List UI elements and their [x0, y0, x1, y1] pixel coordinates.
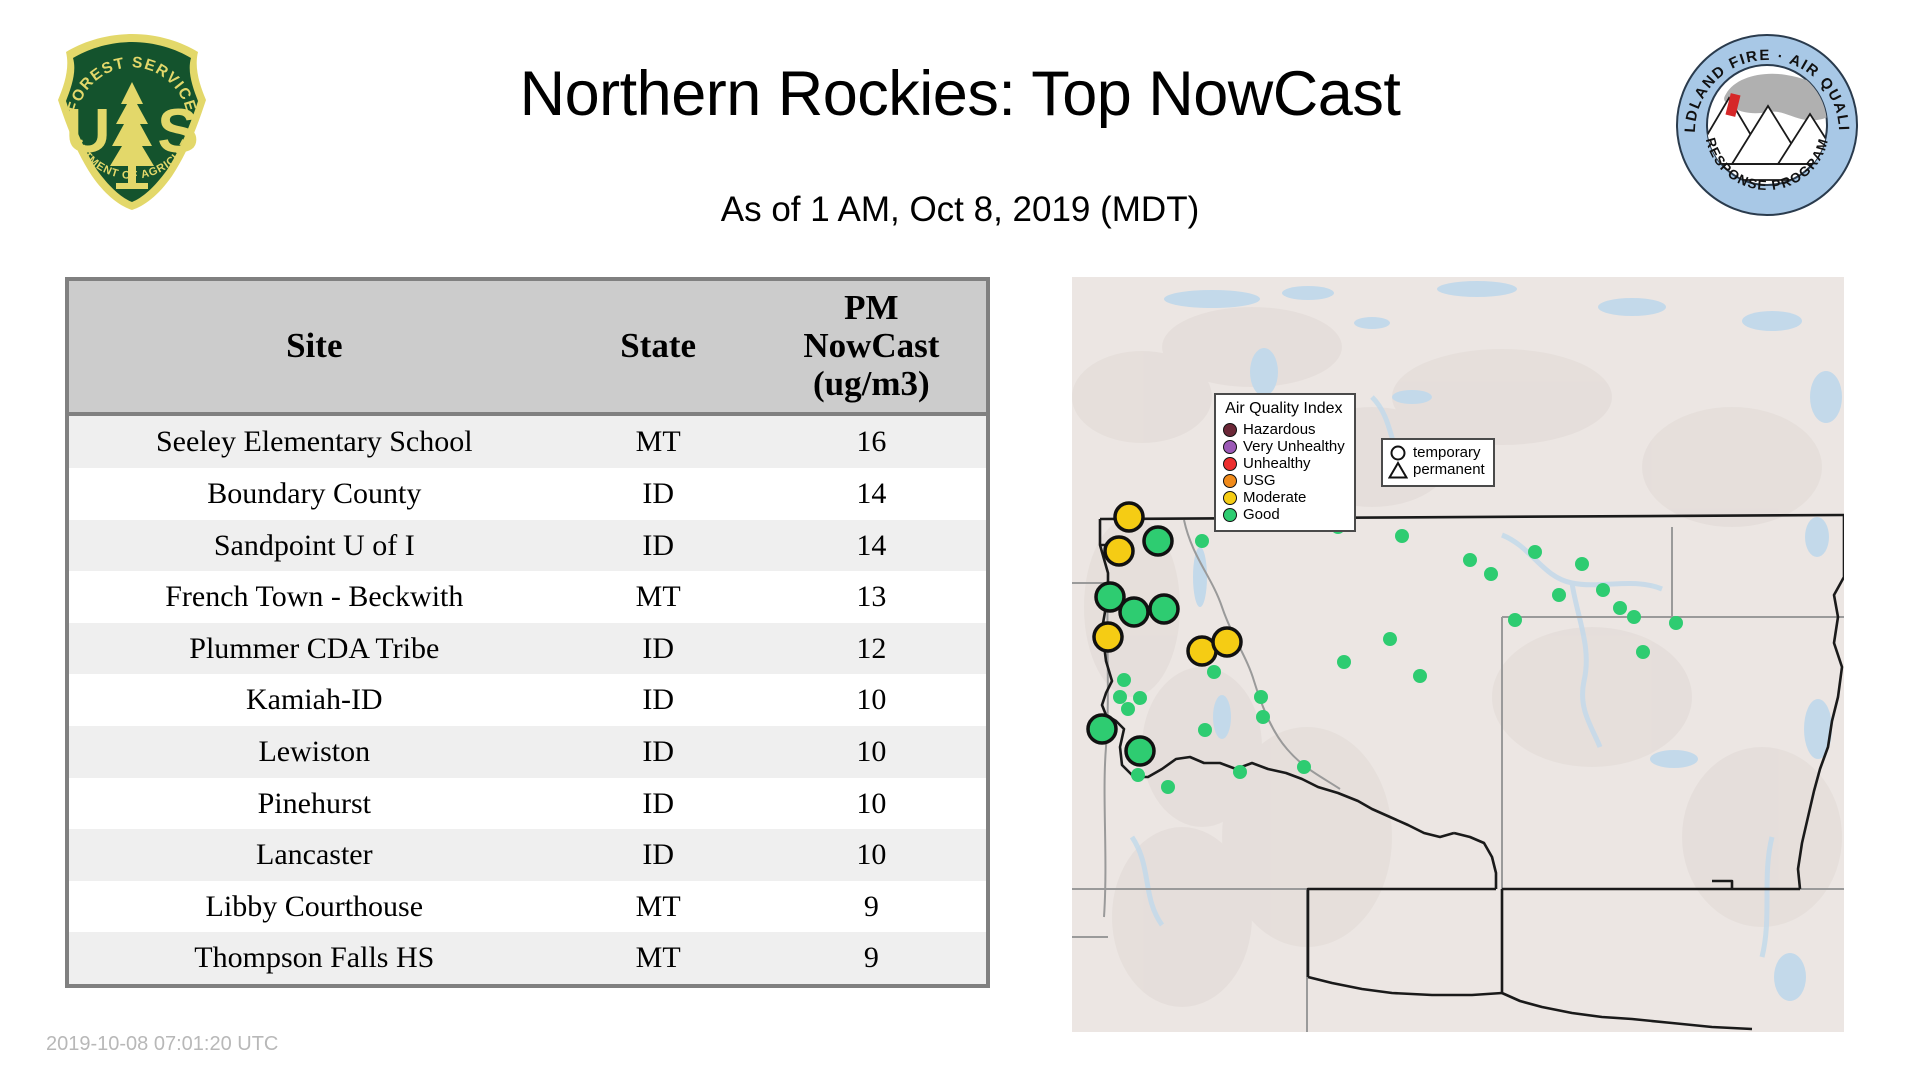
monitor-dot-small[interactable]: [1613, 601, 1627, 615]
cell-site: Lancaster: [69, 829, 560, 881]
cell-state: MT: [560, 932, 757, 984]
aqi-swatch-icon: [1223, 423, 1237, 437]
table-row[interactable]: Plummer CDA TribeID12: [69, 623, 986, 675]
table-row[interactable]: Seeley Elementary SchoolMT16: [69, 414, 986, 468]
cell-site: Lewiston: [69, 726, 560, 778]
monitor-dot-small[interactable]: [1198, 723, 1212, 737]
monitor-dot-small[interactable]: [1508, 613, 1522, 627]
aqi-legend-item: Hazardous: [1223, 421, 1345, 438]
permanent-triangle-icon: [1390, 463, 1407, 478]
cell-site: Boundary County: [69, 468, 560, 520]
monitor-dot-small[interactable]: [1121, 702, 1135, 716]
table-row[interactable]: Kamiah-IDID10: [69, 674, 986, 726]
monitor-dot-small[interactable]: [1528, 545, 1542, 559]
table-header-row: Site State PM NowCast (ug/m3): [69, 281, 986, 414]
site-type-permanent-label: permanent: [1413, 462, 1485, 479]
aqi-legend-item: Good: [1223, 506, 1345, 523]
cell-pm-nowcast: 10: [757, 829, 986, 881]
monitor-dot-small[interactable]: [1233, 765, 1247, 779]
monitor-dot-small[interactable]: [1596, 583, 1610, 597]
cell-state: MT: [560, 414, 757, 468]
cell-state: ID: [560, 829, 757, 881]
aqi-legend-label: Good: [1243, 507, 1280, 522]
aqi-legend-item: Moderate: [1223, 489, 1345, 506]
table-row[interactable]: LancasterID10: [69, 829, 986, 881]
monitor-dot-large[interactable]: [1105, 537, 1133, 565]
monitor-dot-small[interactable]: [1207, 665, 1221, 679]
monitor-dot-small[interactable]: [1131, 768, 1145, 782]
cell-pm-nowcast: 12: [757, 623, 986, 675]
map-canvas: [1072, 277, 1844, 1032]
cell-pm-nowcast: 16: [757, 414, 986, 468]
cell-state: ID: [560, 778, 757, 830]
aqi-legend-title: Air Quality Index: [1223, 400, 1345, 418]
monitor-dot-small[interactable]: [1484, 567, 1498, 581]
aqi-swatch-icon: [1223, 474, 1237, 488]
monitor-dot-small[interactable]: [1113, 690, 1127, 704]
monitor-dot-small[interactable]: [1627, 610, 1641, 624]
footer-timestamp: 2019-10-08 07:01:20 UTC: [46, 1033, 278, 1056]
site-type-temporary-label: temporary: [1413, 445, 1485, 462]
monitor-dot-small[interactable]: [1133, 691, 1147, 705]
cell-pm-nowcast: 14: [757, 468, 986, 520]
monitor-dot-small[interactable]: [1161, 780, 1175, 794]
table-row[interactable]: Thompson Falls HSMT9: [69, 932, 986, 984]
column-header-pm-line2: NowCast: [803, 326, 939, 365]
aqi-swatch-icon: [1223, 491, 1237, 505]
column-header-state[interactable]: State: [560, 281, 757, 414]
nowcast-table: Site State PM NowCast (ug/m3) Seeley Ele…: [69, 281, 986, 984]
air-quality-monitor-map[interactable]: [1072, 277, 1844, 1032]
column-header-site[interactable]: Site: [69, 281, 560, 414]
page-title: Northern Rockies: Top NowCast: [0, 58, 1920, 130]
cell-state: ID: [560, 623, 757, 675]
aqi-legend-label: Very Unhealthy: [1243, 439, 1345, 454]
monitor-dot-large[interactable]: [1120, 598, 1148, 626]
aqi-legend-label: Hazardous: [1243, 422, 1316, 437]
aqi-legend-label: Unhealthy: [1243, 456, 1311, 471]
cell-site: French Town - Beckwith: [69, 571, 560, 623]
monitor-dot-small[interactable]: [1383, 632, 1397, 646]
monitor-dot-large[interactable]: [1115, 503, 1143, 531]
cell-pm-nowcast: 10: [757, 674, 986, 726]
monitor-dot-large[interactable]: [1213, 628, 1241, 656]
monitor-dot-small[interactable]: [1636, 645, 1650, 659]
aqi-legend-item: USG: [1223, 472, 1345, 489]
monitor-dot-small[interactable]: [1195, 534, 1209, 548]
monitor-dot-small[interactable]: [1463, 553, 1477, 567]
cell-state: ID: [560, 726, 757, 778]
monitor-dot-small[interactable]: [1297, 760, 1311, 774]
column-header-pm-nowcast[interactable]: PM NowCast (ug/m3): [757, 281, 986, 414]
column-header-pm-line3: (ug/m3): [813, 364, 930, 403]
monitor-dot-small[interactable]: [1395, 529, 1409, 543]
cell-state: ID: [560, 468, 757, 520]
monitor-dot-small[interactable]: [1256, 710, 1270, 724]
monitor-dot-small[interactable]: [1669, 616, 1683, 630]
table-row[interactable]: Libby CourthouseMT9: [69, 881, 986, 933]
aqi-legend-label: USG: [1243, 473, 1276, 488]
table-header: Site State PM NowCast (ug/m3): [69, 281, 986, 414]
aqi-legend-item: Very Unhealthy: [1223, 438, 1345, 455]
table-row[interactable]: Boundary CountyID14: [69, 468, 986, 520]
monitor-dot-large[interactable]: [1150, 595, 1178, 623]
temporary-circle-icon: [1392, 447, 1405, 460]
cell-state: MT: [560, 571, 757, 623]
table-row[interactable]: LewistonID10: [69, 726, 986, 778]
aqi-legend: Air Quality Index HazardousVery Unhealth…: [1214, 393, 1356, 532]
cell-pm-nowcast: 10: [757, 726, 986, 778]
site-type-shapes: [1388, 444, 1408, 480]
monitor-dot-small[interactable]: [1117, 673, 1131, 687]
cell-site: Kamiah-ID: [69, 674, 560, 726]
aqi-legend-item: Unhealthy: [1223, 455, 1345, 472]
column-header-state-label: State: [620, 326, 696, 365]
aqi-legend-label: Moderate: [1243, 490, 1306, 505]
monitor-dot-large[interactable]: [1094, 623, 1122, 651]
monitor-dot-large[interactable]: [1126, 737, 1154, 765]
page-subtitle: As of 1 AM, Oct 8, 2019 (MDT): [0, 190, 1920, 230]
cell-state: ID: [560, 674, 757, 726]
cell-site: Libby Courthouse: [69, 881, 560, 933]
monitor-dot-small[interactable]: [1254, 690, 1268, 704]
table-row[interactable]: PinehurstID10: [69, 778, 986, 830]
cell-pm-nowcast: 14: [757, 520, 986, 572]
column-header-pm-line1: PM: [844, 288, 898, 327]
cell-pm-nowcast: 9: [757, 881, 986, 933]
monitor-dot-small[interactable]: [1552, 588, 1566, 602]
aqi-swatch-icon: [1223, 508, 1237, 522]
table-body: Seeley Elementary SchoolMT16Boundary Cou…: [69, 414, 986, 984]
cell-site: Plummer CDA Tribe: [69, 623, 560, 675]
cell-state: MT: [560, 881, 757, 933]
cell-state: ID: [560, 520, 757, 572]
cell-site: Seeley Elementary School: [69, 414, 560, 468]
cell-pm-nowcast: 10: [757, 778, 986, 830]
table-row[interactable]: French Town - BeckwithMT13: [69, 571, 986, 623]
cell-site: Pinehurst: [69, 778, 560, 830]
aqi-swatch-icon: [1223, 440, 1237, 454]
aqi-swatch-icon: [1223, 457, 1237, 471]
monitor-dot-large[interactable]: [1144, 527, 1172, 555]
column-header-site-label: Site: [286, 326, 342, 365]
site-type-legend: temporary permanent: [1381, 438, 1495, 487]
cell-pm-nowcast: 13: [757, 571, 986, 623]
cell-pm-nowcast: 9: [757, 932, 986, 984]
cell-site: Thompson Falls HS: [69, 932, 560, 984]
cell-site: Sandpoint U of I: [69, 520, 560, 572]
monitor-dot-large[interactable]: [1088, 715, 1116, 743]
monitor-dot-small[interactable]: [1575, 557, 1589, 571]
nowcast-table-container: Site State PM NowCast (ug/m3) Seeley Ele…: [65, 277, 990, 988]
monitor-dot-small[interactable]: [1413, 669, 1427, 683]
monitor-dot-small[interactable]: [1337, 655, 1351, 669]
table-row[interactable]: Sandpoint U of IID14: [69, 520, 986, 572]
